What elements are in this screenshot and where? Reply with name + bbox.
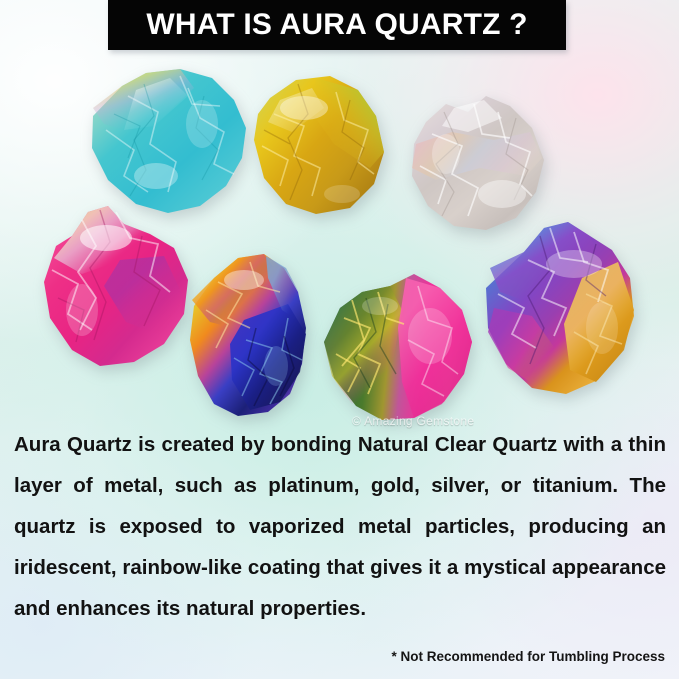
gemstone-photo: © Amazing Gemstone: [0, 52, 679, 412]
aura-quartz-infographic: WHAT IS AURA QUARTZ ?: [0, 0, 679, 679]
gem-pink-aura-quartz: [38, 202, 196, 370]
gem-angel-aura-quartz: [406, 88, 552, 236]
gem-green-pink-aura-quartz: [318, 270, 480, 426]
footnote-text: * Not Recommended for Tumbling Process: [391, 649, 665, 664]
title-banner: WHAT IS AURA QUARTZ ?: [108, 0, 566, 50]
gem-golden-aura-quartz: [246, 74, 394, 218]
gem-purple-amber-aura-quartz: [478, 216, 640, 402]
description-block: Aura Quartz is created by bonding Natura…: [14, 424, 666, 629]
description-paragraph: Aura Quartz is created by bonding Natura…: [14, 424, 666, 629]
gem-teal-aura-quartz: [84, 66, 252, 216]
page-title: WHAT IS AURA QUARTZ ?: [146, 10, 527, 40]
gem-rainbow-titanium-aura-quartz: [184, 248, 316, 420]
